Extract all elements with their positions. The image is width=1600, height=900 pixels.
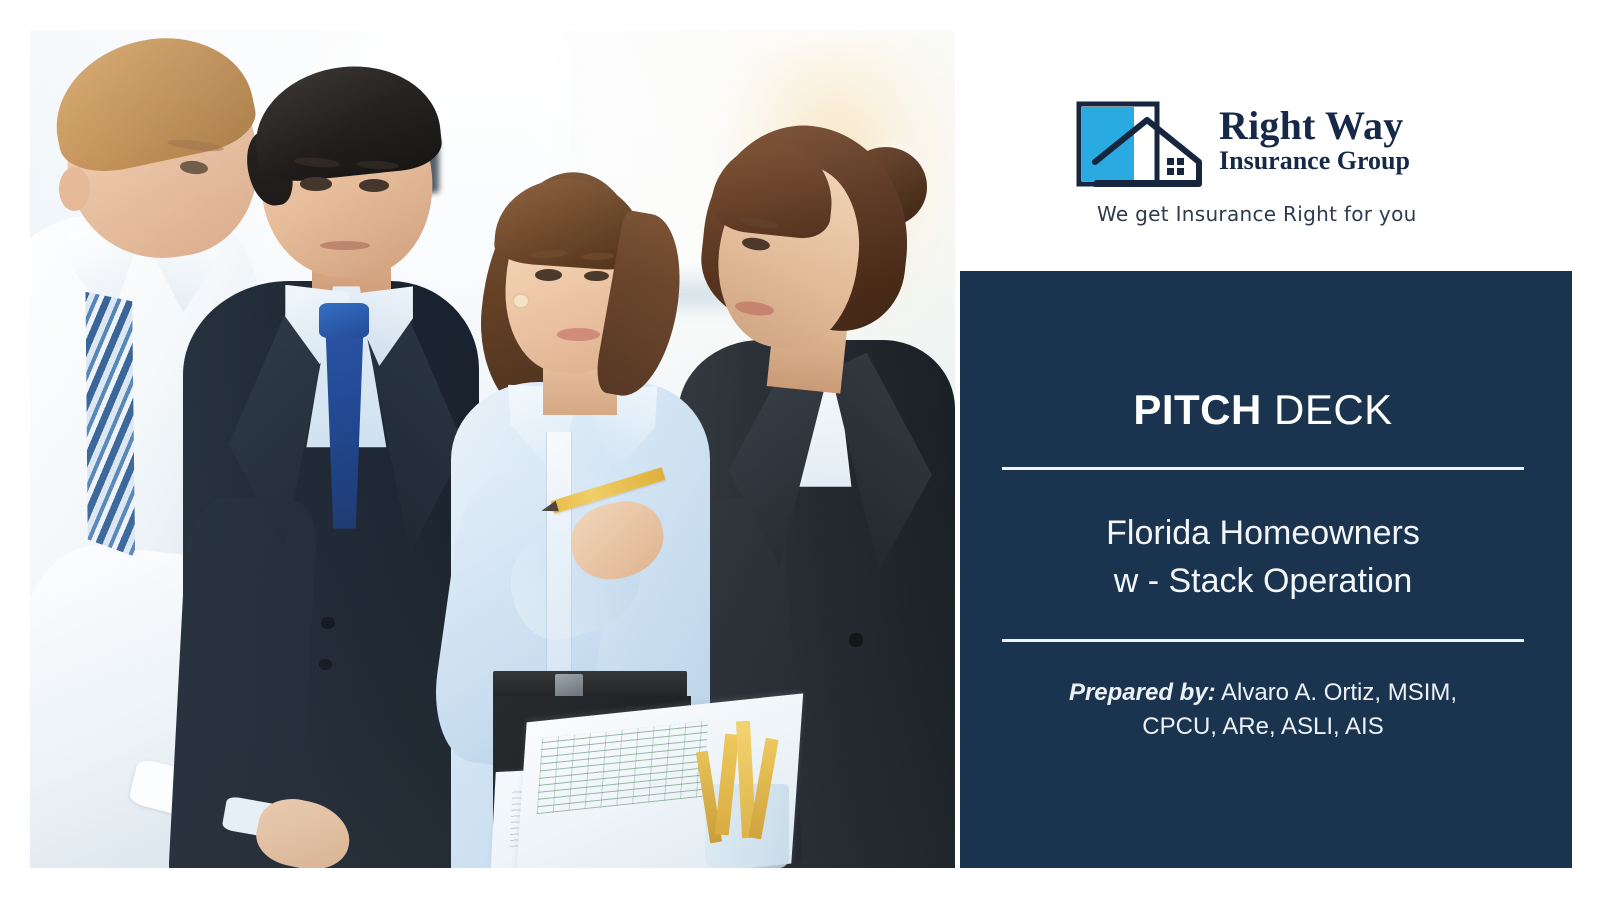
logo-tagline: We get Insurance Right for you [1097, 202, 1495, 226]
person-2-eye-left [300, 177, 331, 190]
page-title: PITCH DECK [1002, 386, 1524, 434]
person-2-eye-right [359, 179, 389, 192]
divider-bottom [1002, 639, 1524, 642]
page-subtitle-line-2: w - Stack Operation [1002, 557, 1524, 605]
person-4-button [849, 633, 864, 646]
title-panel-inner: PITCH DECK Florida Homeowners w - Stack … [1002, 271, 1524, 868]
credit-author: Alvaro A. Ortiz, MSIM, [1216, 679, 1457, 706]
person-2-button-lower [319, 659, 332, 671]
company-logo: Right Way Insurance Group We get Insuran… [1075, 100, 1495, 220]
credit-line-2: CPCU, ARe, ASLI, AIS [1002, 710, 1524, 744]
divider-top [1002, 467, 1524, 470]
page-subtitle-line-1: Florida Homeowners [1002, 509, 1524, 557]
person-3-lips [557, 328, 600, 341]
house-logo-icon [1075, 100, 1203, 193]
house-logo-svg [1075, 100, 1203, 188]
pitch-deck-title-slide: Right Way Insurance Group We get Insuran… [0, 0, 1600, 900]
title-panel: PITCH DECK Florida Homeowners w - Stack … [960, 271, 1572, 868]
person-2-tie-knot [319, 303, 369, 338]
logo-company-name: Right Way [1219, 106, 1410, 145]
credit-label: Prepared by: [1069, 679, 1216, 706]
page-title-bold: PITCH [1133, 386, 1262, 433]
window-panes-icon [1167, 158, 1184, 175]
person-1-ear [59, 167, 90, 211]
page-subtitle: Florida Homeowners w - Stack Operation [1002, 509, 1524, 606]
logo-wordmark: Right Way Insurance Group [1219, 100, 1410, 174]
prepared-by-credit: Prepared by: Alvaro A. Ortiz, MSIM, CPCU… [1002, 676, 1524, 743]
page-title-regular: DECK [1262, 386, 1393, 433]
team-meeting-photo [30, 30, 955, 868]
credit-line-1: Prepared by: Alvaro A. Ortiz, MSIM, [1002, 676, 1524, 710]
logo-row: Right Way Insurance Group [1075, 100, 1495, 193]
person-3-earring [514, 295, 528, 308]
photo-scene [30, 30, 955, 868]
person-3-belt-buckle [555, 674, 583, 699]
logo-company-subname: Insurance Group [1219, 147, 1410, 174]
person-3-eye-left [535, 269, 562, 281]
